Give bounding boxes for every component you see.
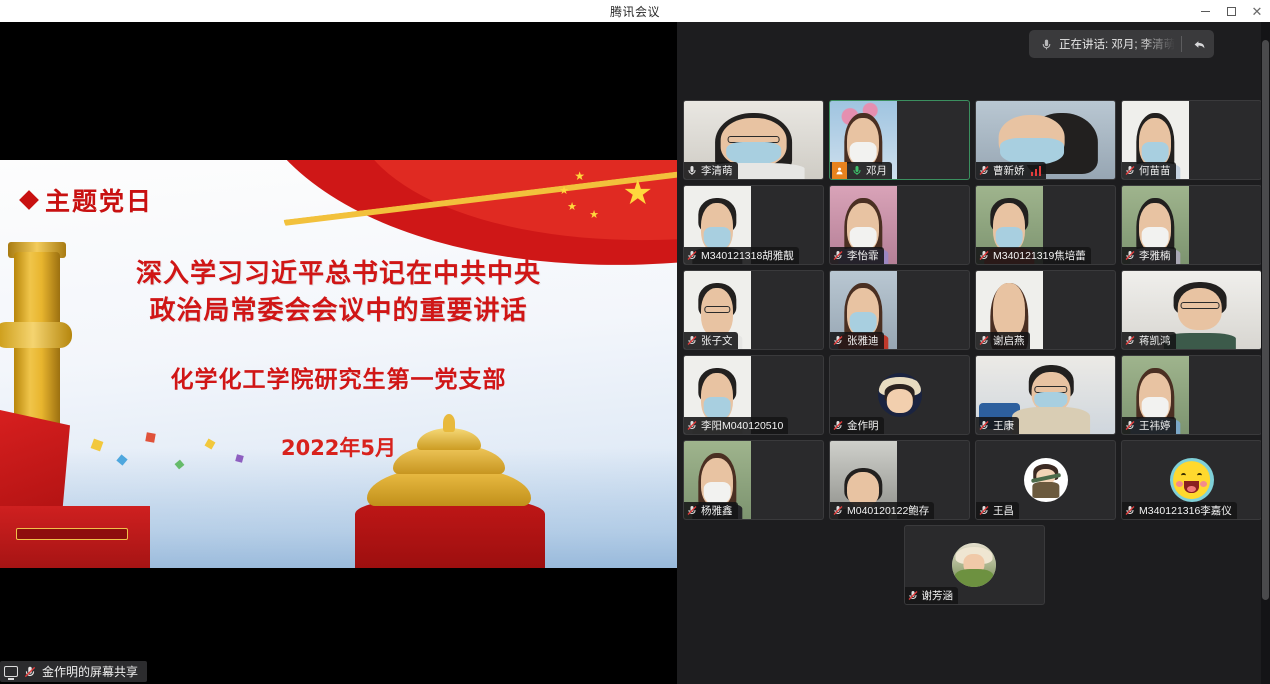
name-badge: 张子文 xyxy=(684,332,738,349)
close-button[interactable]: ✕ xyxy=(1244,0,1270,22)
participant-name: 谢芳涵 xyxy=(922,588,954,603)
name-badge: M040120122鲍存 xyxy=(830,502,934,519)
participant-tiles: 李清萌 xyxy=(683,100,1265,605)
star-icon: ★ xyxy=(589,210,599,221)
participant-tile[interactable]: 张子文 xyxy=(683,270,824,350)
participant-name: M340121319焦培蕾 xyxy=(993,248,1086,263)
participant-tile[interactable]: 何苗苗 xyxy=(1121,100,1262,180)
mic-icon xyxy=(851,164,863,177)
mic-muted-icon xyxy=(686,419,698,432)
participant-name: 何苗苗 xyxy=(1139,163,1171,178)
name-badge: M340121319焦培蕾 xyxy=(976,247,1091,264)
participants-scrollbar[interactable] xyxy=(1261,22,1270,684)
star-icon: ★ xyxy=(574,170,585,182)
screen-share-status: 金作明的屏幕共享 xyxy=(0,661,147,682)
shared-slide: ★ ★ ★ ★ ★ 主题党日 xyxy=(0,160,677,568)
back-arrow-icon[interactable] xyxy=(1188,33,1210,55)
red-flag xyxy=(0,410,70,520)
star-icon: ★ xyxy=(559,186,569,197)
name-badge: 李雅楠 xyxy=(1122,247,1176,264)
participant-name: M040120122鲍存 xyxy=(847,503,929,518)
avatar xyxy=(1170,458,1214,502)
mic-muted-icon xyxy=(832,249,844,262)
participant-name: 李清萌 xyxy=(701,163,733,178)
avatar xyxy=(1024,458,1068,502)
shared-screen-pane[interactable]: ★ ★ ★ ★ ★ 主题党日 xyxy=(0,22,677,684)
participant-name: 李雅楠 xyxy=(1139,248,1171,263)
mic-muted-icon xyxy=(686,334,698,347)
app-title: 腾讯会议 xyxy=(610,3,660,20)
participant-tile[interactable]: 谢芳涵 xyxy=(904,525,1045,605)
participant-name: 曹新娇 xyxy=(993,163,1025,178)
screen-share-icon xyxy=(4,666,18,677)
mic-icon[interactable] xyxy=(1033,33,1059,55)
mic-muted-icon xyxy=(1124,334,1136,347)
name-badge: M340121316李嘉仪 xyxy=(1122,502,1237,519)
name-badge: 张雅迪 xyxy=(830,332,884,349)
star-icon: ★ xyxy=(567,202,577,213)
slide-subtitle: 化学化工学院研究生第一党支部 xyxy=(0,360,677,394)
mic-muted-icon xyxy=(1124,419,1136,432)
mic-muted-icon xyxy=(978,504,990,517)
tile-row: M340121318胡雅靓 xyxy=(683,185,1265,265)
name-badge: 金作明 xyxy=(830,417,884,434)
tile-row: 李清萌 xyxy=(683,100,1265,180)
participant-tile[interactable]: M340121319焦培蕾 xyxy=(975,185,1116,265)
flag-stars: ★ ★ ★ ★ ★ xyxy=(535,168,655,228)
glasses-icon xyxy=(705,306,730,313)
glasses-icon xyxy=(1180,302,1219,309)
mic-muted-icon xyxy=(686,504,698,517)
slide-tag-label: 主题党日 xyxy=(45,182,153,218)
participant-tile[interactable]: 蒋凯鸿 xyxy=(1121,270,1262,350)
star-icon: ★ xyxy=(623,176,653,210)
participant-name: M340121318胡雅靓 xyxy=(701,248,794,263)
name-badge: 王祎婷 xyxy=(1122,417,1176,434)
scrollbar-thumb[interactable] xyxy=(1262,40,1269,600)
participant-tile[interactable]: M340121318胡雅靓 xyxy=(683,185,824,265)
mic-muted-icon xyxy=(832,504,844,517)
participant-name: 李阳M040120510 xyxy=(701,418,783,433)
participant-tile[interactable]: 李雅楠 xyxy=(1121,185,1262,265)
active-speaker-bar[interactable]: 正在讲话: 邓月; 李清萌: xyxy=(1029,30,1214,58)
name-badge: 何苗苗 xyxy=(1122,162,1176,179)
head xyxy=(1178,288,1222,330)
participant-tile[interactable]: M340121316李嘉仪 xyxy=(1121,440,1262,520)
participant-name: 张雅迪 xyxy=(847,333,879,348)
avatar xyxy=(952,543,996,587)
participant-name: 杨雅鑫 xyxy=(701,503,733,518)
maximize-icon xyxy=(1227,7,1236,16)
mic-muted-icon xyxy=(978,164,990,177)
avatar xyxy=(878,373,922,417)
slide-title-block: 深入学习习近平总书记在中共中央 政治局常委会会议中的重要讲话 xyxy=(0,256,677,330)
name-badge: 李怡霏 xyxy=(830,247,884,264)
mic-muted-icon xyxy=(23,665,37,679)
active-speaker-label: 正在讲话: 邓月; 李清萌: xyxy=(1059,36,1175,52)
participant-tile[interactable]: 李怡霏 xyxy=(829,185,970,265)
participant-tile[interactable]: 王昌 xyxy=(975,440,1116,520)
diamond-bullet-icon xyxy=(19,190,39,210)
tile-row: 李阳M040120510 xyxy=(683,355,1265,435)
participant-tile[interactable]: 张雅迪 xyxy=(829,270,970,350)
mic-muted-icon xyxy=(686,249,698,262)
slide-topic-tag: 主题党日 xyxy=(22,182,153,218)
participant-name: 蒋凯鸿 xyxy=(1139,333,1171,348)
face-mask xyxy=(1000,138,1064,165)
name-badge: 王昌 xyxy=(976,502,1019,519)
participant-tile[interactable]: 杨雅鑫 xyxy=(683,440,824,520)
host-badge-icon xyxy=(832,162,847,179)
mic-muted-icon xyxy=(832,419,844,432)
mic-muted-icon xyxy=(1124,249,1136,262)
participant-name: M340121316李嘉仪 xyxy=(1139,503,1232,518)
weak-signal-icon xyxy=(1031,166,1042,176)
participant-name: 王康 xyxy=(993,418,1014,433)
mic-muted-icon xyxy=(978,249,990,262)
participant-name: 王昌 xyxy=(993,503,1014,518)
minimize-icon xyxy=(1201,11,1210,12)
tile-row: 谢芳涵 xyxy=(683,525,1265,605)
participant-tile[interactable]: 邓月 xyxy=(829,100,970,180)
head xyxy=(993,283,1025,338)
mic-muted-icon xyxy=(832,334,844,347)
participant-tile[interactable]: 王祎婷 xyxy=(1121,355,1262,435)
close-icon: ✕ xyxy=(1252,5,1263,18)
minimize-button[interactable] xyxy=(1192,0,1218,22)
name-badge: 邓月 xyxy=(830,162,892,179)
participant-tile[interactable]: 曹新娇 xyxy=(975,100,1116,180)
torso xyxy=(1012,407,1090,434)
name-badge: 谢芳涵 xyxy=(905,587,959,604)
mic-muted-icon xyxy=(907,589,919,602)
temple-base xyxy=(355,496,545,568)
mic-muted-icon xyxy=(1124,164,1136,177)
mic-icon xyxy=(686,164,698,177)
participant-tile[interactable]: 李阳M040120510 xyxy=(683,355,824,435)
participant-name: 李怡霏 xyxy=(847,248,879,263)
name-badge: M340121318胡雅靓 xyxy=(684,247,799,264)
participant-name: 张子文 xyxy=(701,333,733,348)
slide-title-line-1: 深入学习习近平总书记在中共中央 xyxy=(0,256,677,293)
participant-name: 金作明 xyxy=(847,418,879,433)
participant-tile[interactable]: 王康 xyxy=(975,355,1116,435)
tile-row: 杨雅鑫 M040120122鲍 xyxy=(683,440,1265,520)
name-badge: 杨雅鑫 xyxy=(684,502,738,519)
participant-tile[interactable]: 谢启燕 xyxy=(975,270,1116,350)
name-badge: 曹新娇 xyxy=(976,162,1046,179)
participant-tile[interactable]: 李清萌 xyxy=(683,100,824,180)
name-badge: 李清萌 xyxy=(684,162,738,179)
temple-finial xyxy=(443,414,455,432)
window-titlebar: 腾讯会议 ✕ xyxy=(0,0,1270,22)
tiananmen-wall xyxy=(0,506,150,568)
screen-share-label: 金作明的屏幕共享 xyxy=(42,663,138,680)
participants-pane: 正在讲话: 邓月; 李清萌: xyxy=(677,22,1270,684)
name-badge: 李阳M040120510 xyxy=(684,417,788,434)
mic-muted-icon xyxy=(978,334,990,347)
name-badge: 谢启燕 xyxy=(976,332,1030,349)
tile-row: 张子文 xyxy=(683,270,1265,350)
slide-date: 2022年5月 xyxy=(0,432,677,462)
meeting-window: ★ ★ ★ ★ ★ 主题党日 xyxy=(0,22,1270,684)
participant-tile[interactable]: M040120122鲍存 xyxy=(829,440,970,520)
mic-muted-icon xyxy=(1124,504,1136,517)
maximize-button[interactable] xyxy=(1218,0,1244,22)
participant-name: 王祎婷 xyxy=(1139,418,1171,433)
name-badge: 王康 xyxy=(976,417,1019,434)
participant-tile[interactable]: 金作明 xyxy=(829,355,970,435)
divider xyxy=(1181,36,1182,52)
participant-name: 邓月 xyxy=(866,163,887,178)
mic-muted-icon xyxy=(978,419,990,432)
window-controls: ✕ xyxy=(1192,0,1270,22)
participant-name: 谢启燕 xyxy=(993,333,1025,348)
name-badge: 蒋凯鸿 xyxy=(1122,332,1176,349)
slide-title-line-2: 政治局常委会会议中的重要讲话 xyxy=(0,293,677,330)
wall-plaque xyxy=(16,528,128,540)
